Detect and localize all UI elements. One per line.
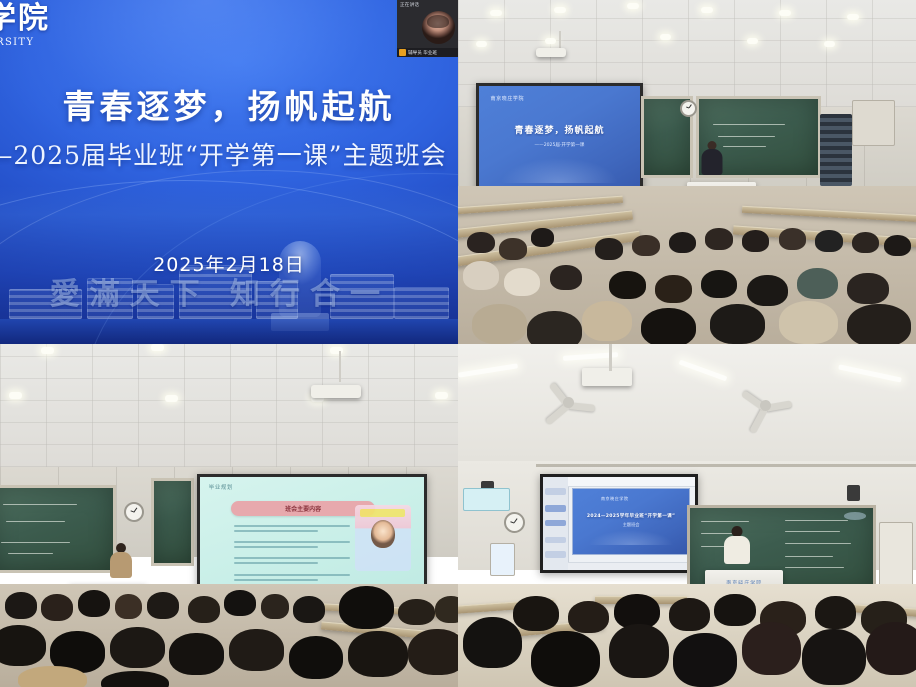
classroom-scene: 南京晓庄学院 2024—2025学年毕业班“开学第一课” 主题班会: [458, 344, 916, 687]
locker-unit: [820, 114, 852, 186]
photo-top-right: 南京晓庄学院 青春逐梦，扬帆起航 ——2025届·开学第一课 南京晓庄: [458, 0, 916, 344]
projector-mount: [609, 344, 612, 371]
ceiling-light: [476, 41, 487, 47]
powerpoint-window: 南京晓庄学院 2024—2025学年毕业班“开学第一课” 主题班会: [543, 477, 694, 570]
ceiling-fan-icon: [540, 389, 596, 415]
ceiling-light: [660, 34, 671, 40]
slide-thumbnail-rail[interactable]: [543, 477, 568, 570]
projection-screen: 毕业规划 班会主要内容: [197, 474, 427, 597]
university-logo: 范学院 UNIVERSITY: [0, 2, 144, 48]
slide-stage: 南京晓庄学院 2024—2025学年毕业班“开学第一课” 主题班会: [572, 488, 690, 555]
student-audience: [0, 584, 458, 687]
classroom-scene: 毕业规划 班会主要内容 南京晓庄学院: [0, 344, 458, 687]
ceiling-light: [9, 392, 22, 399]
blackboard-left: [0, 485, 116, 573]
slide-subtitle: 主题班会: [573, 522, 689, 528]
ceiling-projector-icon: [582, 368, 632, 386]
participant-name: 辅导员 毕业班: [408, 50, 437, 56]
participant-name-bar: 辅导员 毕业班: [397, 48, 458, 57]
powerpoint-toolbar[interactable]: [568, 477, 695, 486]
slide-footer-graphic: [582, 528, 679, 545]
wall-speaker-icon: [847, 485, 860, 501]
slide-title: 青春逐梦，扬帆起航: [479, 123, 639, 136]
ceiling-light: [747, 38, 758, 44]
slide-title: 青春逐梦，扬帆起航: [0, 80, 458, 128]
wall-clock-icon: [680, 100, 697, 117]
slide-subtitle: —2025届毕业班“开学第一课”主题班会: [0, 136, 458, 172]
powerpoint-statusbar: [568, 562, 695, 569]
ceiling-light: [41, 347, 54, 354]
ceiling-light: [847, 14, 859, 20]
ceiling-light: [701, 7, 713, 13]
projection-screen: 南京晓庄学院 2024—2025学年毕业班“开学第一课” 主题班会: [540, 474, 697, 573]
slide-date: 2025年2月18日: [0, 250, 458, 277]
ceiling-light: [779, 10, 791, 16]
projected-slide: 毕业规划 班会主要内容: [200, 477, 424, 594]
ceiling: [0, 344, 458, 467]
photo-collage: 愛滿天下 知行合一 范学院 UNIVERSITY 青春逐梦，扬帆起航 —2025…: [0, 0, 916, 687]
ceiling-light: [165, 395, 178, 402]
participant-avatar: [422, 11, 455, 44]
wall-clock-icon: [504, 512, 525, 533]
wall-clock-icon: [124, 502, 144, 522]
photo-bottom-right: 南京晓庄学院 2024—2025学年毕业班“开学第一课” 主题班会: [458, 344, 916, 687]
ceiling-projector-icon: [536, 48, 566, 57]
slide-bullet: [234, 522, 351, 535]
slide-header: 毕业规划: [209, 483, 233, 491]
wall-rail: [536, 464, 916, 467]
slide-bullet: [234, 554, 351, 567]
wall-notice-board: [463, 488, 511, 511]
slide-logo: 南京晓庄学院: [491, 95, 525, 102]
student-audience: [458, 570, 916, 687]
slide-bullet: [234, 571, 351, 584]
blackboard-panel: [151, 478, 194, 566]
slide-bullet: [234, 538, 351, 551]
video-tile-status: 正在讲话: [397, 0, 458, 8]
ceiling-light: [490, 10, 502, 16]
university-logo-cn: 范学院: [0, 2, 144, 36]
slide-subtitle: ——2025届·开学第一课: [479, 142, 639, 148]
cartoon-graduate-illustration: [355, 505, 411, 570]
ceiling-light: [545, 38, 556, 44]
ceiling-light: [435, 392, 448, 399]
ceiling-light: [824, 41, 835, 47]
ceiling-light: [554, 7, 566, 13]
photo-bottom-left: 毕业规划 班会主要内容 南京晓庄学院: [0, 344, 458, 687]
shared-slide-panel: 愛滿天下 知行合一 范学院 UNIVERSITY 青春逐梦，扬帆起航 —2025…: [0, 0, 458, 344]
ceiling-light: [151, 344, 164, 351]
ceiling-projector-icon: [311, 385, 361, 398]
video-participant-tile[interactable]: 正在讲话 辅导员 毕业班: [395, 0, 458, 57]
student-audience: [458, 179, 916, 344]
slide-logo: 南京晓庄学院: [601, 496, 629, 502]
slide-banner: 班会主要内容: [231, 501, 375, 516]
ceiling-fan-icon: [737, 392, 793, 418]
lecture-hall-scene: 南京晓庄学院 青春逐梦，扬帆起航 ——2025届·开学第一课 南京晓庄: [458, 0, 916, 344]
microphone-icon: [399, 49, 406, 56]
university-logo-en: UNIVERSITY: [0, 37, 144, 48]
wall-cabinet: [852, 100, 895, 147]
slide-title: 2024—2025学年毕业班“开学第一课”: [573, 513, 689, 519]
projector-mount: [339, 351, 341, 382]
